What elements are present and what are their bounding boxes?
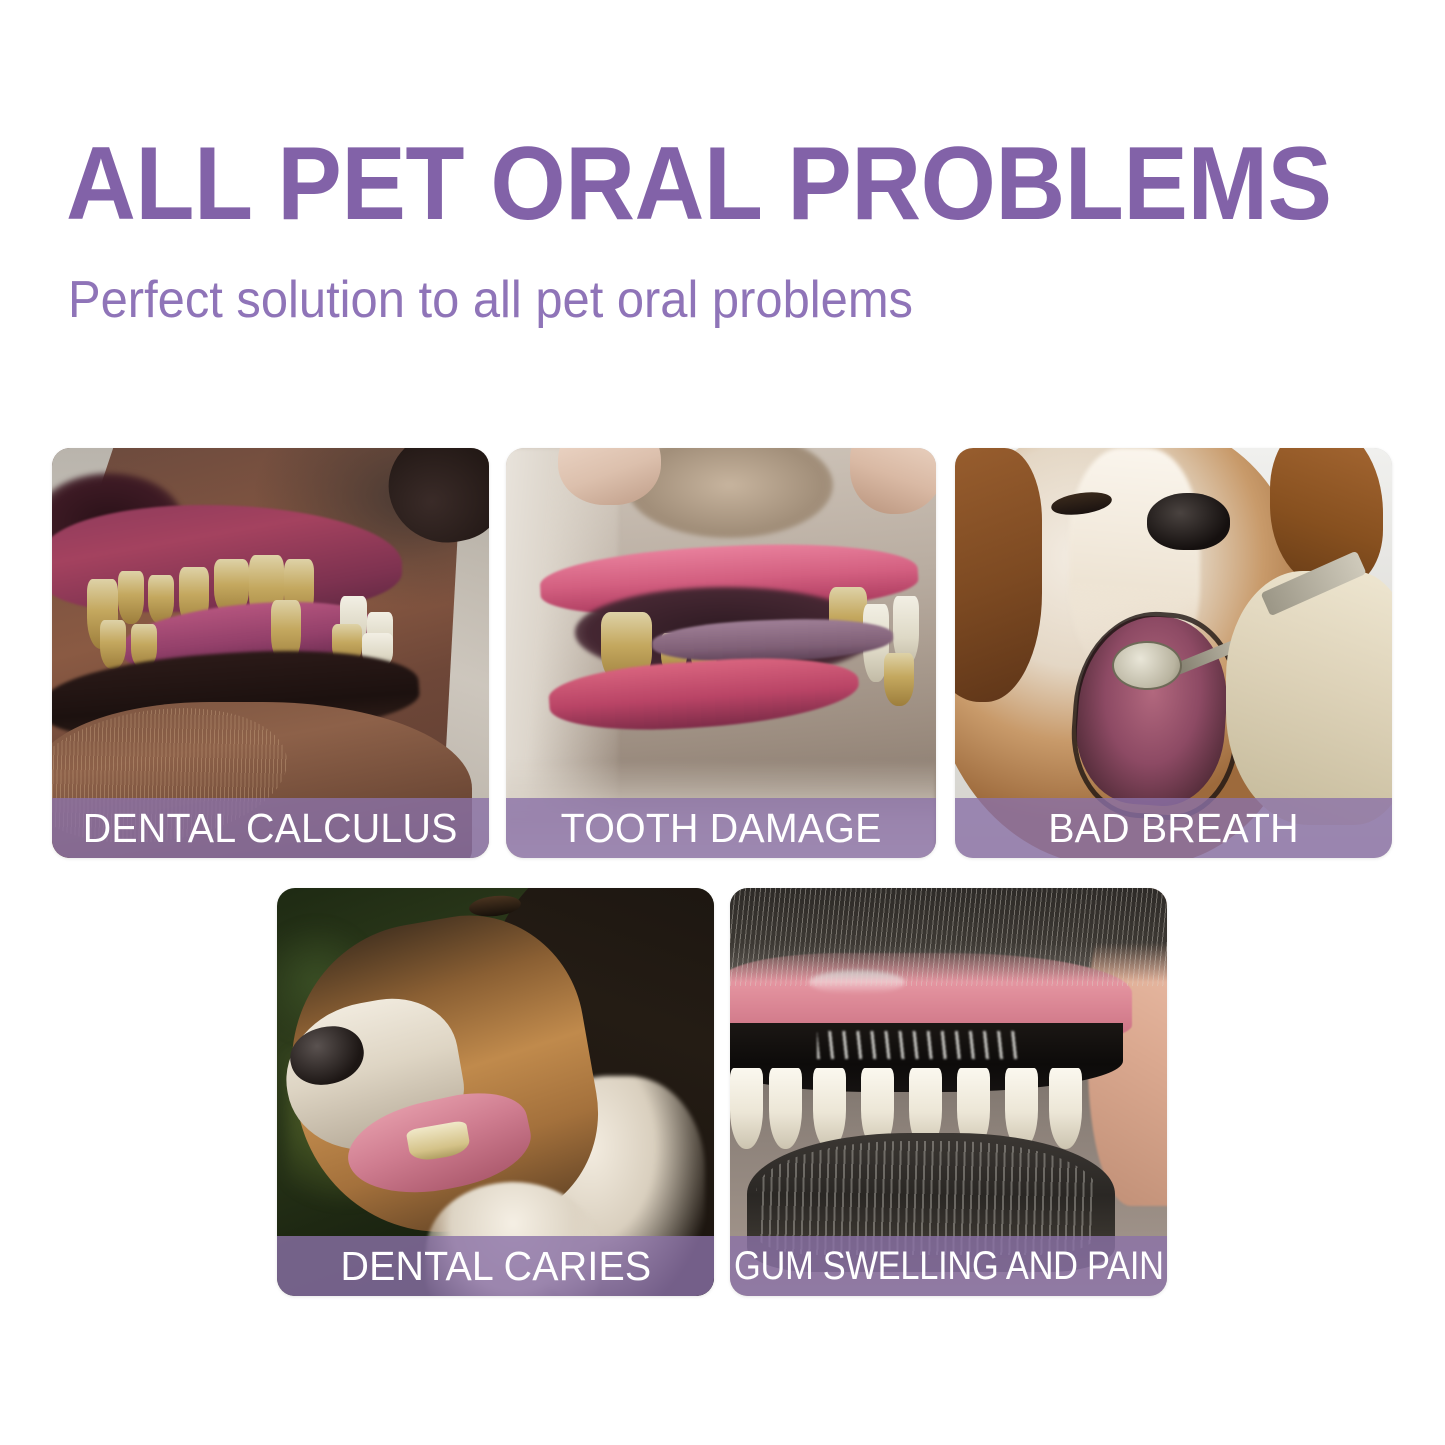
- card-label-bar: DENTAL CALCULUS: [52, 798, 489, 858]
- card-label-text: BAD BREATH: [1048, 808, 1299, 849]
- card-label-bar: TOOTH DAMAGE: [506, 798, 936, 858]
- card-label-text: DENTAL CALCULUS: [83, 808, 458, 849]
- card-label-text: TOOTH DAMAGE: [561, 808, 882, 849]
- dental-caries-photo: DENTAL CARIES: [277, 888, 714, 1296]
- card-label-text: GUM SWELLING AND PAIN: [734, 1246, 1164, 1286]
- card-label-bar: DENTAL CARIES: [277, 1236, 714, 1296]
- card-label-text: DENTAL CARIES: [340, 1246, 651, 1287]
- problem-card-bad-breath[interactable]: BAD BREATH: [955, 448, 1392, 858]
- gum-swelling-photo: GUM SWELLING AND PAIN: [730, 888, 1167, 1296]
- tooth-damage-photo: TOOTH DAMAGE: [506, 448, 936, 858]
- problem-card-dental-calculus[interactable]: DENTAL CALCULUS: [52, 448, 489, 858]
- problem-card-gum-swelling-and-pain[interactable]: GUM SWELLING AND PAIN: [730, 888, 1167, 1296]
- problem-card-dental-caries[interactable]: DENTAL CARIES: [277, 888, 714, 1296]
- problem-card-tooth-damage[interactable]: TOOTH DAMAGE: [506, 448, 936, 858]
- problem-card-grid: DENTAL CALCULUS TOOTH DAMAGE: [0, 0, 1445, 1445]
- bad-breath-photo: BAD BREATH: [955, 448, 1392, 858]
- card-label-bar: BAD BREATH: [955, 798, 1392, 858]
- dental-calculus-photo: DENTAL CALCULUS: [52, 448, 489, 858]
- card-label-bar: GUM SWELLING AND PAIN: [730, 1236, 1167, 1296]
